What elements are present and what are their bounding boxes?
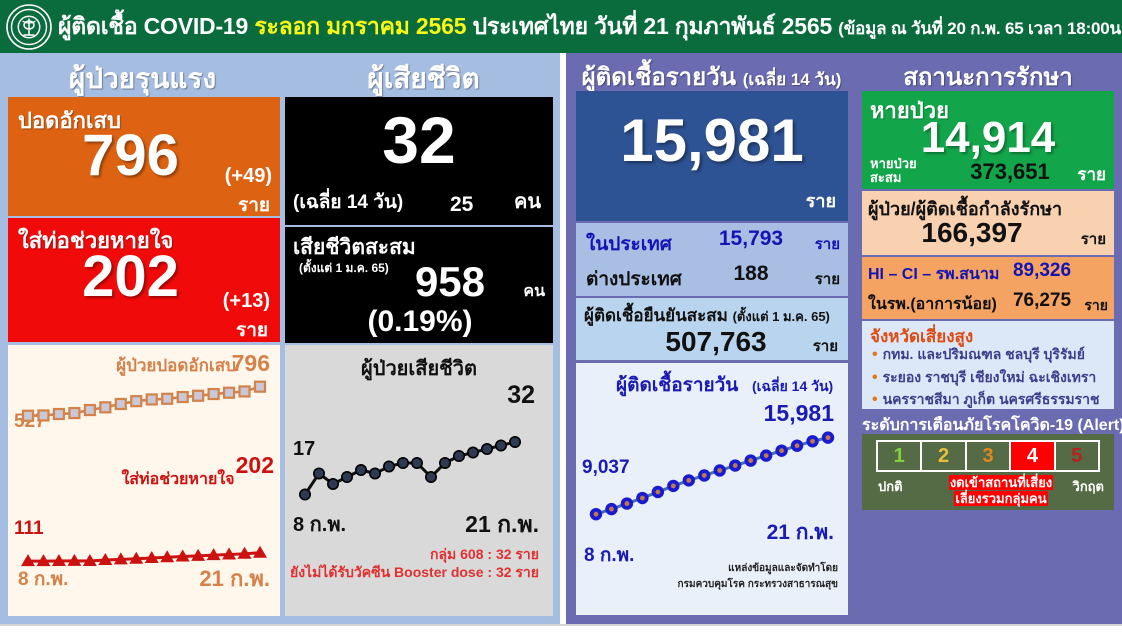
series-deaths-marker: [300, 489, 310, 499]
card-hi-ci-breakdown: HI – CI – รพ.สนาม 89,326 ในรพ.(อาการน้อย…: [862, 257, 1114, 319]
series-daily-marker-center: [826, 435, 831, 440]
chart-text: 8 ก.พ.: [18, 569, 68, 590]
alert-label-mid-line2: เลี่ยงรวมกลุ่มคน: [954, 491, 1047, 506]
chart-text: 796: [232, 350, 270, 376]
recovered-cum-label: หายป่วย สะสม: [870, 157, 917, 184]
series-deaths-marker: [328, 479, 338, 489]
card-cumulative-cases: ผู้ติดเชื้อยืนยันสะสม (ตั้งแต่ 1 ม.ค. 65…: [576, 298, 848, 360]
hi-ci-label: HI – CI – รพ.สนาม: [868, 262, 999, 287]
card-high-risk-provinces: จังหวัดเสี่ยงสูง กทม. และปริมณฑล ชลบุรี …: [862, 321, 1114, 409]
chart-text: ใส่ท่อช่วยหายใจ: [121, 469, 234, 488]
alert-label-low: ปกติ: [878, 476, 903, 497]
daily-title-small: (เฉลี่ย 14 วัน): [743, 70, 842, 89]
recovered-cum-label-line2: สะสม: [870, 170, 901, 185]
series-pneumonia-marker: [116, 399, 126, 409]
dashboard-root: ผู้ติดเชื้อ COVID-19 ระลอก มกราคม 2565 ป…: [0, 0, 1122, 633]
series-deaths-marker: [482, 444, 492, 454]
alert-level-3[interactable]: 3: [967, 442, 1011, 470]
series-deaths-marker: [440, 458, 450, 468]
domestic-unit: ราย: [815, 232, 840, 256]
chart-text: ผู้ติดเชื้อรายวัน: [616, 370, 738, 397]
chart-text: 8 ก.พ.: [584, 545, 634, 566]
series-daily-marker-center: [640, 496, 645, 501]
series-deaths-marker: [342, 472, 352, 482]
column-title-severe: ผู้ป่วยรุนแรง: [4, 57, 281, 101]
series-pneumonia-marker: [193, 391, 203, 401]
ventilator-value: 202: [38, 248, 223, 306]
chart-text: ผู้ป่วยปอดอักเสบ: [116, 356, 236, 377]
cumulative-cases-caption: ผู้ติดเชื้อยืนยันสะสม (ตั้งแต่ 1 ม.ค. 65…: [584, 302, 830, 329]
hi-ci-value: 89,326: [997, 260, 1087, 282]
cumulative-cases-since: (ตั้งแต่ 1 ม.ค. 65): [733, 309, 830, 324]
daily-cases-chart: ผู้ติดเชื้อรายวัน(เฉลี่ย 14 วัน)15,9819,…: [576, 363, 848, 615]
series-daily-marker-center: [625, 501, 630, 506]
series-pneumonia-marker: [54, 409, 64, 419]
alert-level-1[interactable]: 1: [878, 442, 922, 470]
domestic-value: 15,793: [696, 227, 806, 251]
alert-level-captions: ปกติ งดเข้าสถานที่เสี่ยง เลี่ยงรวมกลุ่มค…: [862, 474, 1114, 508]
series-pneumonia-marker: [240, 386, 250, 396]
card-pneumonia: ปอดอักเสบ 796 (+49) ราย: [8, 97, 280, 216]
high-risk-province-item: กทม. และปริมณฑล ชลบุรี บุริรัมย์: [872, 344, 1100, 367]
chart-text: กรมควบคุมโรค กระทรวงสาธารณสุข: [678, 577, 839, 590]
imported-unit: ราย: [815, 267, 840, 291]
series-pneumonia-marker: [100, 402, 110, 412]
chart-text: 8 ก.พ.: [293, 514, 346, 536]
domestic-label: ในประเทศ: [586, 229, 672, 259]
series-pneumonia-marker: [38, 410, 48, 420]
series-deaths-marker: [468, 447, 478, 457]
pneumonia-value: 796: [38, 127, 223, 185]
chart-text: แหล่งข้อมูลและจัดทำโดย: [728, 561, 838, 575]
series-deaths-marker: [314, 468, 324, 478]
cumulative-cases-label: ผู้ติดเชื้อยืนยันสะสม: [584, 306, 728, 325]
deaths-avg-value: 25: [450, 193, 473, 217]
series-daily-marker-center: [748, 458, 753, 463]
series-pneumonia-marker: [131, 396, 141, 406]
chart-text: 21 ก.พ.: [199, 566, 270, 591]
series-pneumonia-marker: [178, 392, 188, 402]
series-pneumonia-marker: [85, 405, 95, 415]
ventilator-unit: ราย: [236, 315, 268, 345]
cumulative-cases-value: 507,763: [626, 326, 806, 358]
series-daily-marker-center: [810, 439, 815, 444]
in-treatment-value: 166,397: [882, 217, 1062, 249]
right-section: ผู้ติดเชื้อรายวัน (เฉลี่ย 14 วัน) 15,981…: [566, 53, 1122, 624]
alert-level-5[interactable]: 5: [1056, 442, 1098, 470]
chart-text: 17: [293, 438, 315, 460]
chart-text: ยังไม่ได้รับวัคซีน Booster dose : 32 ราย: [290, 563, 539, 580]
series-pneumonia-marker: [147, 394, 157, 404]
severe-chart: ผู้ป่วยปอดอักเสบ796527ใส่ท่อช่วยหายใจ202…: [8, 345, 280, 616]
series-deaths-marker: [426, 472, 436, 482]
series-daily-marker-center: [655, 490, 660, 495]
high-risk-province-list: กทม. และปริมณฑล ชลบุรี บุริรัมย์ระยอง รา…: [872, 344, 1100, 412]
series-deaths-marker: [454, 451, 464, 461]
card-ventilator: ใส่ท่อช่วยหายใจ 202 (+13) ราย: [8, 218, 280, 342]
alert-level-2[interactable]: 2: [922, 442, 966, 470]
chart-text: 15,981: [764, 400, 835, 426]
cumulative-cases-unit: ราย: [813, 334, 838, 358]
deaths-cum-value: 958: [385, 261, 515, 303]
series-pneumonia-marker: [224, 388, 234, 398]
series-pneumonia-marker: [69, 408, 79, 418]
daily-cases-unit: ราย: [806, 186, 836, 215]
title-note: (ข้อมูล ณ วันที่ 20 ก.พ. 65 เวลา 18:00น.…: [838, 19, 1122, 38]
title-country: ประเทศไทย วันที่ 21 กุมภาพันธ์ 2565: [473, 13, 833, 39]
column-title-deaths: ผู้เสียชีวิต: [285, 57, 562, 101]
high-risk-province-item: ระยอง ราชบุรี เชียงใหม่ ฉะเชิงเทรา: [872, 367, 1100, 390]
series-pneumonia-marker: [255, 382, 265, 392]
footer-strip: [0, 624, 1122, 633]
card-deaths-cumulative: เสียชีวิตสะสม (ตั้งแต่ 1 ม.ค. 65) 958 คน…: [285, 227, 553, 343]
imported-value: 188: [696, 262, 806, 286]
page-title: ผู้ติดเชื้อ COVID-19 ระลอก มกราคม 2565 ป…: [58, 15, 1122, 38]
series-pneumonia-marker: [23, 411, 33, 421]
chart-text: 21 ก.พ.: [767, 521, 834, 544]
card-daily-cases: 15,981 ราย: [576, 91, 848, 221]
chart-text: 9,037: [582, 457, 630, 478]
series-daily-marker-center: [594, 512, 599, 517]
chart-text: 32: [507, 381, 535, 409]
deaths-today-unit: คน: [514, 185, 541, 217]
chart-text: กลุ่ม 608 : 32 ราย: [430, 546, 539, 563]
chart-text: 21 ก.พ.: [465, 511, 539, 537]
high-risk-province-item: นครราชสีมา ภูเก็ต นครศรีธรรมราช: [872, 389, 1100, 412]
card-deaths-today: 32 (เฉลี่ย 14 วัน) 25 คน: [285, 97, 553, 225]
ministry-of-public-health-emblem-icon: [6, 4, 52, 50]
alert-label-high: วิกฤต: [1073, 476, 1104, 497]
series-daily-marker-center: [779, 448, 784, 453]
deaths-chart: ผู้ป่วยเสียชีวิต32178 ก.พ.21 ก.พ.กลุ่ม 6…: [285, 345, 553, 616]
series-deaths-marker: [384, 461, 394, 471]
series-deaths-marker: [370, 468, 380, 478]
alert-level-4[interactable]: 4: [1011, 442, 1055, 470]
chart-text: ผู้ป่วยเสียชีวิต: [361, 357, 477, 382]
in-treatment-unit: ราย: [1081, 227, 1106, 251]
alert-label-mid: งดเข้าสถานที่เสี่ยง เลี่ยงรวมกลุ่มคน: [936, 475, 1066, 508]
series-pneumonia-marker: [162, 394, 172, 404]
hospital-value: 76,275: [997, 290, 1087, 312]
series-daily-marker-center: [764, 453, 769, 458]
daily-cases-value: 15,981: [576, 111, 848, 171]
pneumonia-unit: ราย: [238, 190, 270, 220]
card-case-origin: ในประเทศ 15,793 ราย ต่างประเทศ 188 ราย: [576, 223, 848, 296]
series-daily-marker-center: [609, 507, 614, 512]
series-daily-marker-center: [671, 484, 676, 489]
recovered-cum-value: 373,651: [950, 159, 1070, 185]
card-alert-level: 12345 ปกติ งดเข้าสถานที่เสี่ยง เลี่ยงรวม…: [862, 434, 1114, 510]
series-daily-marker-center: [702, 473, 707, 478]
series-daily-marker-center: [686, 478, 691, 483]
series-daily-marker-center: [733, 463, 738, 468]
ventilator-delta: (+13): [223, 290, 270, 313]
alert-label-mid-line1: งดเข้าสถานที่เสี่ยง: [949, 475, 1053, 490]
hospital-label: ในรพ.(อาการน้อย): [868, 292, 997, 317]
pneumonia-delta: (+49): [225, 165, 272, 188]
deaths-cum-unit: คน: [523, 279, 545, 304]
recovered-value: 14,914: [882, 116, 1094, 160]
deaths-avg-label: (เฉลี่ย 14 วัน): [293, 187, 403, 217]
deaths-cum-since: (ตั้งแต่ 1 ม.ค. 65): [299, 259, 389, 278]
recovered-unit: ราย: [1077, 161, 1106, 188]
daily-title-main: ผู้ติดเชื้อรายวัน: [582, 64, 736, 91]
deaths-cum-percent: (0.19%): [325, 305, 515, 339]
series-pneumonia-marker: [209, 389, 219, 399]
card-recovered: หายป่วย 14,914 หายป่วย สะสม 373,651 ราย: [862, 91, 1114, 189]
chart-text: 202: [236, 452, 274, 478]
hospital-unit: ราย: [1084, 295, 1108, 317]
series-daily-marker-center: [795, 443, 800, 448]
series-deaths-marker: [356, 465, 366, 475]
series-daily-marker-center: [717, 468, 722, 473]
title-main: ผู้ติดเชื้อ COVID-19: [58, 13, 248, 39]
chart-text: (เฉลี่ย 14 วัน): [752, 376, 833, 394]
series-deaths-marker: [496, 440, 506, 450]
series-deaths-marker: [412, 458, 422, 468]
imported-label: ต่างประเทศ: [586, 264, 682, 294]
alert-level-scale: 12345: [876, 440, 1100, 472]
chart-text: 111: [14, 518, 44, 539]
title-highlight: ระลอก มกราคม 2565: [254, 13, 466, 39]
series-deaths-marker: [510, 437, 520, 447]
series-deaths-marker: [398, 458, 408, 468]
deaths-today-value: 32: [285, 107, 553, 173]
card-in-treatment: ผู้ป่วย/ผู้ติดเชื้อกำลังรักษา 166,397 รา…: [862, 191, 1114, 255]
left-section: ผู้ป่วยรุนแรง ปอดอักเสบ 796 (+49) ราย ใส…: [0, 53, 563, 624]
page-header: ผู้ติดเชื้อ COVID-19 ระลอก มกราคม 2565 ป…: [0, 0, 1122, 53]
